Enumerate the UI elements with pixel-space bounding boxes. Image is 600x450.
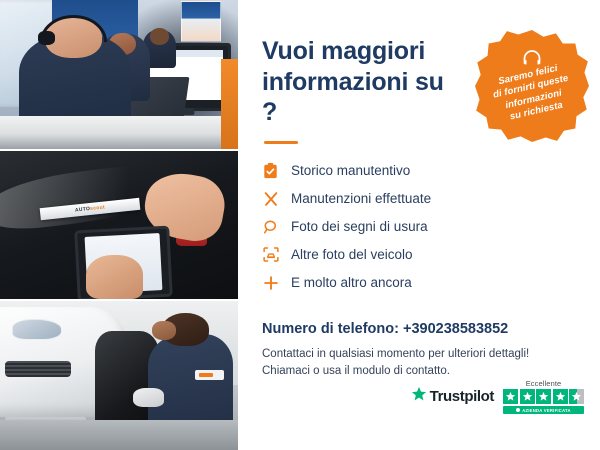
star-filled [553, 389, 568, 404]
feature-item-wear-photos[interactable]: Foto dei segni di usura [262, 213, 578, 241]
mechanic-face [152, 321, 176, 340]
clipboard-check-icon [262, 162, 279, 179]
star-filled [503, 389, 518, 404]
feature-list: Storico manutentivo Manutenzioni effettu… [262, 157, 578, 297]
trustpilot-rating-label: Eccellente [503, 379, 584, 388]
star-half [569, 389, 584, 404]
verified-label: AZIENDA VERIFICATA [522, 408, 571, 413]
headline-line-2: informazioni su ? [262, 67, 462, 128]
plus-icon [262, 274, 279, 291]
contact-subtext: Contattaci in qualsiasi momento per ulte… [262, 346, 578, 382]
feature-label: E molto altro ancora [291, 275, 412, 290]
orange-accent-panel [221, 59, 238, 148]
info-panel: Vuoi maggiori informazioni su ? Saremo f… [238, 0, 600, 450]
feature-item-maintenance-history[interactable]: Storico manutentivo [262, 157, 578, 185]
trustpilot-widget[interactable]: Trustpilot Eccellente [411, 379, 584, 415]
feature-label: Manutenzioni effettuate [291, 191, 431, 206]
feature-label: Altre foto del veicolo [291, 247, 413, 262]
desk-surface [0, 116, 238, 149]
title-underline-divider [264, 141, 298, 144]
verified-company-badge: AZIENDA VERIFICATA [503, 406, 584, 414]
headline-line-1: Vuoi maggiori [262, 37, 425, 65]
ruler-brand-text: AUTOscout [75, 204, 106, 213]
feature-item-services-performed[interactable]: Manutenzioni effettuate [262, 185, 578, 213]
trustpilot-logo: Trustpilot [411, 386, 494, 407]
feature-label: Foto dei segni di usura [291, 219, 428, 234]
star-filled [520, 389, 535, 404]
promo-banner: AUTOscout Vuoi maggiori informazioni su … [0, 0, 600, 450]
car-grille [5, 361, 72, 377]
badge-text: Saremo felici di fornirti queste informa… [489, 61, 575, 126]
phone-number-line[interactable]: Numero di telefono: +390238583852 [262, 321, 578, 337]
mechanic-wheel-photo [0, 299, 238, 450]
headset-icon [522, 50, 542, 67]
trustpilot-stars [503, 389, 584, 404]
headset-earcup-icon [38, 31, 55, 44]
background-colleague-2-head [150, 28, 169, 44]
trustpilot-wordmark: Trustpilot [430, 388, 494, 405]
scan-vehicle-icon [262, 246, 279, 263]
feature-item-vehicle-photos[interactable]: Altre foto del veicolo [262, 241, 578, 269]
uniform-logo-patch [195, 370, 224, 380]
feature-label: Storico manutentivo [291, 163, 410, 178]
trustpilot-rating: Eccellente [503, 379, 584, 415]
mechanic-glove [133, 388, 164, 407]
availability-badge: Saremo felici di fornirti queste informa… [475, 30, 589, 142]
feature-item-more[interactable]: E molto altro ancora [262, 269, 578, 297]
tools-cross-icon [262, 190, 279, 207]
contact-subtext-line-1: Contattaci in qualsiasi momento per ulte… [262, 346, 578, 364]
star-filled [536, 389, 551, 404]
page-title: Vuoi maggiori informazioni su ? [262, 36, 462, 128]
call-center-advisor-photo [0, 0, 238, 149]
magnifier-icon [262, 218, 279, 235]
inspector-hand-lower [86, 255, 143, 300]
workshop-floor [0, 420, 238, 450]
vehicle-inspection-photo: AUTOscout [0, 149, 238, 300]
wall-poster [181, 1, 221, 41]
photo-column: AUTOscout [0, 0, 238, 450]
car-headlamp [12, 319, 62, 340]
trustpilot-star-icon [411, 386, 427, 407]
verified-check-icon [516, 408, 520, 412]
